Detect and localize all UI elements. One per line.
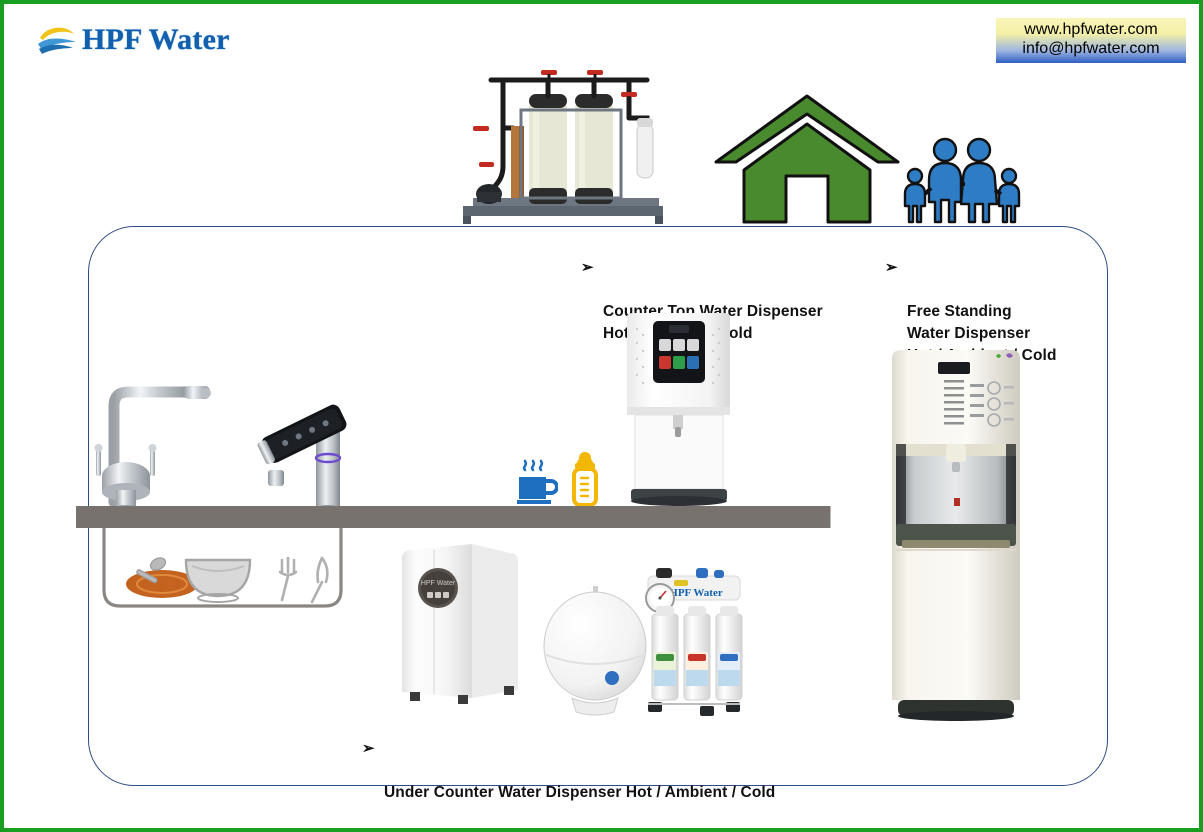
svg-text:HPF Water: HPF Water [669, 587, 723, 599]
arrow-bullet-icon: ➢ [581, 257, 594, 278]
svg-text:HPF Water: HPF Water [421, 580, 456, 587]
caption-under-counter: ➢ Under Counter Water Dispenser Hot / Am… [384, 738, 775, 804]
page-root: HPF Water www.hpfwater.com info@hpfwater… [0, 0, 1203, 832]
caption-under-counter-text: Under Counter Water Dispenser Hot / Ambi… [384, 784, 775, 801]
email-text: info@hpfwater.com [996, 40, 1186, 59]
digital-touch-faucet-image [254, 396, 354, 512]
arrow-bullet-icon: ➢ [885, 257, 898, 278]
three-way-chrome-faucet-image [84, 372, 219, 512]
counter-top-water-dispenser-image [621, 311, 736, 509]
brand-logo[interactable]: HPF Water [36, 22, 230, 58]
arrow-bullet-icon: ➢ [362, 738, 375, 759]
website-text: www.hpfwater.com [996, 21, 1186, 40]
reverse-osmosis-system-image: HPF Water [536, 566, 744, 724]
brand-wordmark: HPF Water [82, 23, 230, 57]
free-standing-water-dispenser-image [888, 348, 1024, 723]
water-treatment-plant-image [451, 66, 683, 226]
kitchen-counter-slab [76, 506, 831, 528]
blue-family-icon [899, 134, 1027, 224]
sun-wave-logo-icon [36, 22, 80, 58]
green-house-icon [710, 90, 905, 224]
hot-coffee-mug-icon [516, 459, 558, 507]
under-counter-sink-basin [100, 528, 345, 610]
baby-bottle-icon [570, 451, 600, 507]
contact-info-box[interactable]: www.hpfwater.com info@hpfwater.com [996, 18, 1186, 63]
under-counter-dispenser-box-image: HPF Water [396, 540, 524, 710]
